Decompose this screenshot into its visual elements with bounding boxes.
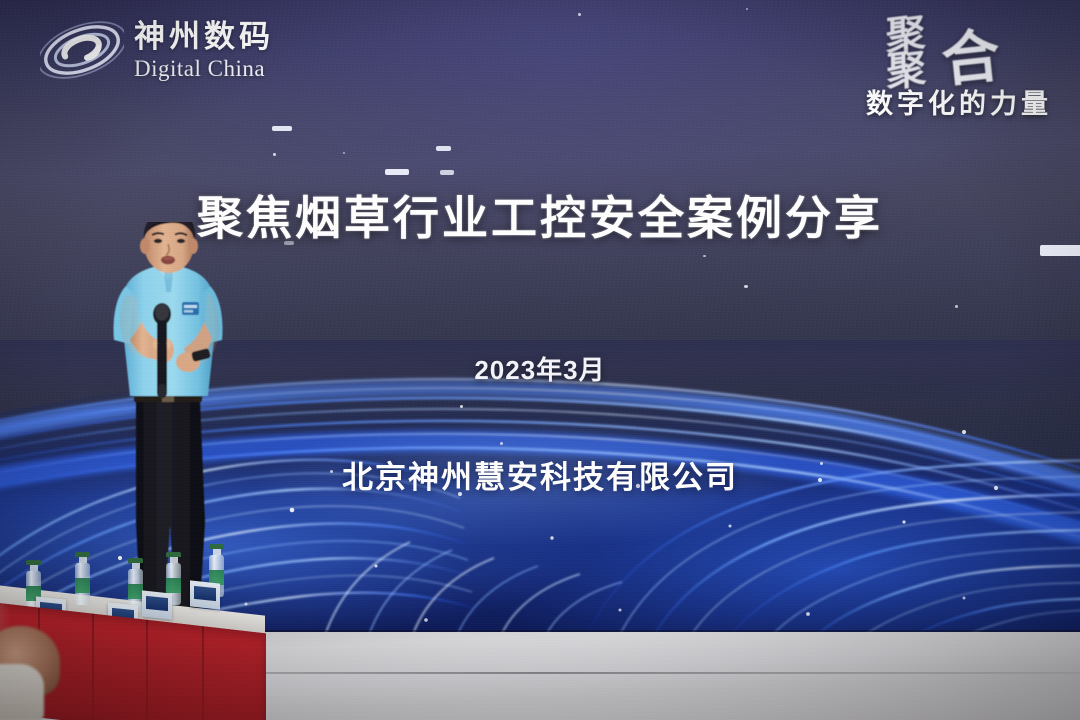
event-subtitle: 数字化的力量 (866, 82, 1052, 121)
delegate-name-card (190, 580, 220, 609)
water-bottle (128, 558, 143, 611)
brand-name-cn: 神州数码 (134, 21, 274, 52)
brand-name-en: Digital China (134, 57, 274, 80)
water-bottle (75, 552, 90, 605)
delegate-name-card (142, 590, 172, 619)
stage-photo: 聚焦烟草行业工控安全案例分享 2023年3月 北京神州慧安科技有限公司 神州数码… (0, 0, 1080, 720)
brand-text-block: 神州数码 Digital China (134, 21, 274, 80)
seated-attendee-papers (0, 664, 44, 720)
event-logo: 聚 聚 合 数字化的力量 (804, 16, 1054, 112)
event-calligraphy-ju: 聚 聚 (886, 16, 921, 91)
digital-china-swirl-icon (40, 18, 124, 82)
brand-logo-digital-china: 神州数码 Digital China (40, 18, 274, 82)
